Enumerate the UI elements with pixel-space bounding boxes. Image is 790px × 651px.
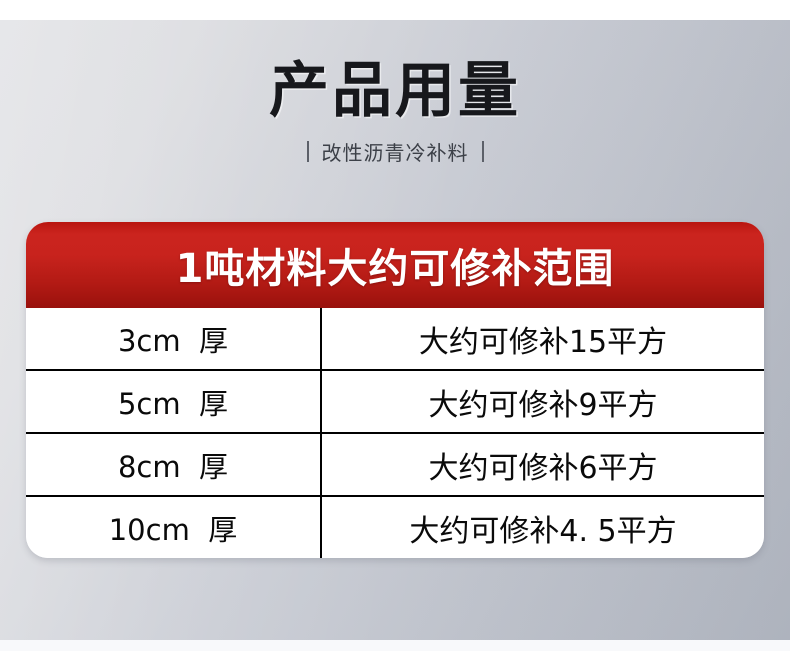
vertical-bar-left-icon xyxy=(307,141,309,162)
page-subtitle: 改性沥青冷补料 xyxy=(322,137,469,166)
coverage-cell: 大约可修补6平方 xyxy=(322,434,764,495)
coverage-cell: 大约可修补4. 5平方 xyxy=(322,497,764,558)
table-row: 8cm 厚 大约可修补6平方 xyxy=(26,434,764,497)
bottom-white-band xyxy=(0,640,790,651)
vertical-bar-right-icon xyxy=(482,141,484,162)
thickness-cell: 8cm 厚 xyxy=(26,434,322,495)
table-row: 5cm 厚 大约可修补9平方 xyxy=(26,371,764,434)
usage-table-header-label: 1吨材料大约可修补范围 xyxy=(176,236,615,294)
top-white-band xyxy=(0,0,790,20)
thickness-cell: 5cm 厚 xyxy=(26,371,322,432)
heading-block: 产品用量 改性沥青冷补料 xyxy=(0,60,790,166)
table-row: 10cm 厚 大约可修补4. 5平方 xyxy=(26,497,764,558)
page-title: 产品用量 xyxy=(0,60,790,123)
usage-table-header: 1吨材料大约可修补范围 xyxy=(26,222,764,308)
thickness-cell: 10cm 厚 xyxy=(26,497,322,558)
usage-table: 3cm 厚 大约可修补15平方 5cm 厚 大约可修补9平方 8cm 厚 大约可… xyxy=(26,308,764,558)
coverage-cell: 大约可修补15平方 xyxy=(322,308,764,369)
subtitle-row: 改性沥青冷补料 xyxy=(0,137,790,166)
product-usage-infographic: 产品用量 改性沥青冷补料 1吨材料大约可修补范围 3cm 厚 大约可修补15平方… xyxy=(0,0,790,651)
table-row: 3cm 厚 大约可修补15平方 xyxy=(26,308,764,371)
thickness-cell: 3cm 厚 xyxy=(26,308,322,369)
usage-table-card: 1吨材料大约可修补范围 3cm 厚 大约可修补15平方 5cm 厚 大约可修补9… xyxy=(26,222,764,558)
coverage-cell: 大约可修补9平方 xyxy=(322,371,764,432)
